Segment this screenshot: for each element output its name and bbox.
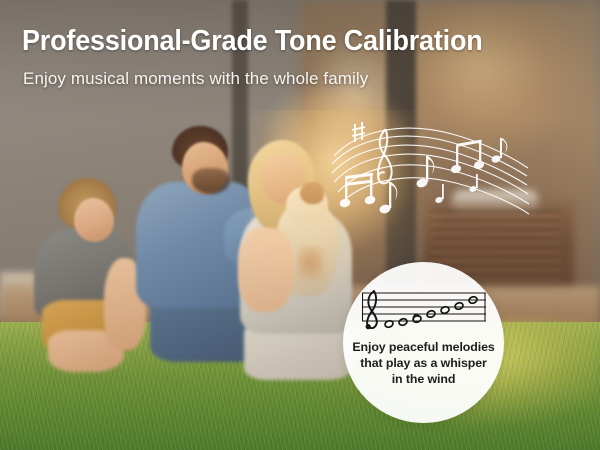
dog-fur-patch [296,246,324,280]
badge-caption-line-3: in the wind [352,372,494,388]
father-beard [192,168,230,194]
feature-callout-badge: Enjoy peaceful melodies that play as a w… [343,262,504,423]
boy-face [74,198,114,242]
music-staff-ascending-notes-icon [360,289,488,331]
badge-caption-line-2: that play as a whisper [352,356,494,372]
mother-arm [238,228,294,312]
subtitle: Enjoy musical moments with the whole fam… [23,69,368,89]
product-ad-banner: Professional-Grade Tone Calibration Enjo… [0,0,600,450]
badge-caption-line-1: Enjoy peaceful melodies [352,340,494,356]
page-title: Professional-Grade Tone Calibration [22,26,483,56]
badge-caption: Enjoy peaceful melodies that play as a w… [352,340,494,388]
dog-ear [300,182,324,204]
